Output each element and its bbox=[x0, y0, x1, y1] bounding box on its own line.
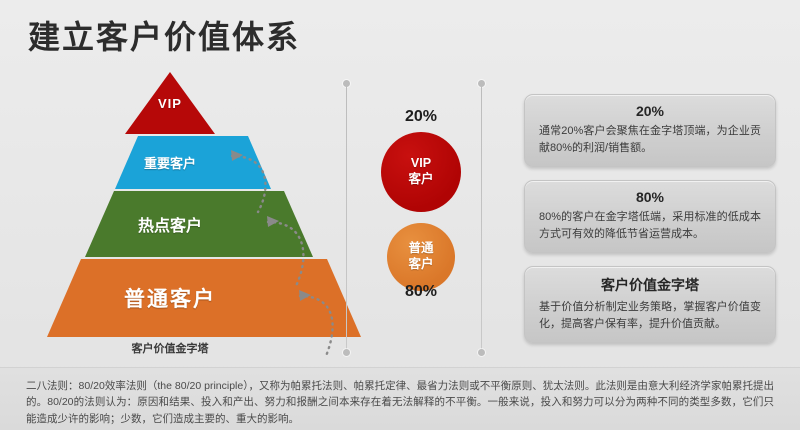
info-card-pyramid-body: 基于价值分析制定业务策略，掌握客户价值变化，提高客户保有率，提升价值贡献。 bbox=[539, 299, 761, 332]
divider-line bbox=[346, 84, 347, 352]
vip-circle-line1: VIP bbox=[411, 156, 431, 172]
info-card-20[interactable]: 20% 通常20%客户会聚焦在金字塔顶端，为企业贡献80%的利润/销售额。 bbox=[524, 94, 776, 167]
pyramid-level-vip-label: VIP bbox=[158, 96, 182, 111]
info-card-pyramid-heading: 客户价值金字塔 bbox=[539, 275, 761, 295]
arrow-head-icon-3 bbox=[299, 290, 311, 301]
pyramid-level-hot-label: 热点客户 bbox=[138, 212, 202, 236]
arrow-head-icon-2 bbox=[267, 216, 279, 227]
divider-right bbox=[480, 80, 483, 356]
footer-note: 二八法则：80/20效率法则（the 80/20 principle），又称为帕… bbox=[0, 367, 800, 430]
pyramid-level-normal-label: 普通客户 bbox=[124, 283, 216, 313]
vip-customer-circle[interactable]: VIP 客户 bbox=[381, 132, 461, 212]
info-card-80-body: 80%的客户在金字塔低端，采用标准的低成本方式可有效的降低节省运营成本。 bbox=[539, 209, 761, 242]
slide-root: 建立客户价值体系 VIP 重要客户 热点客户 普通客户 客户价值金字塔 bbox=[0, 0, 800, 430]
info-card-20-body: 通常20%客户会聚焦在金字塔顶端，为企业贡献80%的利润/销售额。 bbox=[539, 123, 761, 156]
divider-dot-icon bbox=[343, 349, 350, 356]
divider-left bbox=[345, 80, 348, 356]
info-card-pyramid[interactable]: 客户价值金字塔 基于价值分析制定业务策略，掌握客户价值变化，提高客户保有率，提升… bbox=[524, 266, 776, 343]
info-cards-group: 20% 通常20%客户会聚焦在金字塔顶端，为企业贡献80%的利润/销售额。 80… bbox=[524, 94, 776, 356]
arrow-head-icon-1 bbox=[231, 150, 243, 161]
vip-circle-line2: 客户 bbox=[408, 172, 433, 188]
page-title: 建立客户价值体系 bbox=[28, 12, 300, 58]
normal-customer-circle[interactable]: 普通 客户 bbox=[387, 223, 455, 291]
normal-circle-line2: 客户 bbox=[408, 257, 433, 273]
ratio-circles-group: 20% VIP 客户 普通 客户 80% bbox=[362, 80, 480, 356]
footer-note-text: 二八法则：80/20效率法则（the 80/20 principle），又称为帕… bbox=[0, 368, 800, 427]
divider-line bbox=[481, 84, 482, 352]
normal-percent-label: 80% bbox=[362, 283, 480, 301]
pyramid-level-key-label: 重要客户 bbox=[144, 153, 196, 172]
pyramid-flow-arrows bbox=[210, 144, 340, 374]
vip-percent-label: 20% bbox=[362, 108, 480, 126]
pyramid-level-vip[interactable]: VIP bbox=[30, 72, 310, 134]
info-card-80[interactable]: 80% 80%的客户在金字塔低端，采用标准的低成本方式可有效的降低节省运营成本。 bbox=[524, 180, 776, 253]
info-card-80-heading: 80% bbox=[539, 189, 761, 205]
info-card-20-heading: 20% bbox=[539, 103, 761, 119]
customer-value-pyramid: VIP 重要客户 热点客户 普通客户 客户价值金字塔 bbox=[30, 72, 310, 352]
normal-circle-line1: 普通 bbox=[408, 241, 433, 257]
